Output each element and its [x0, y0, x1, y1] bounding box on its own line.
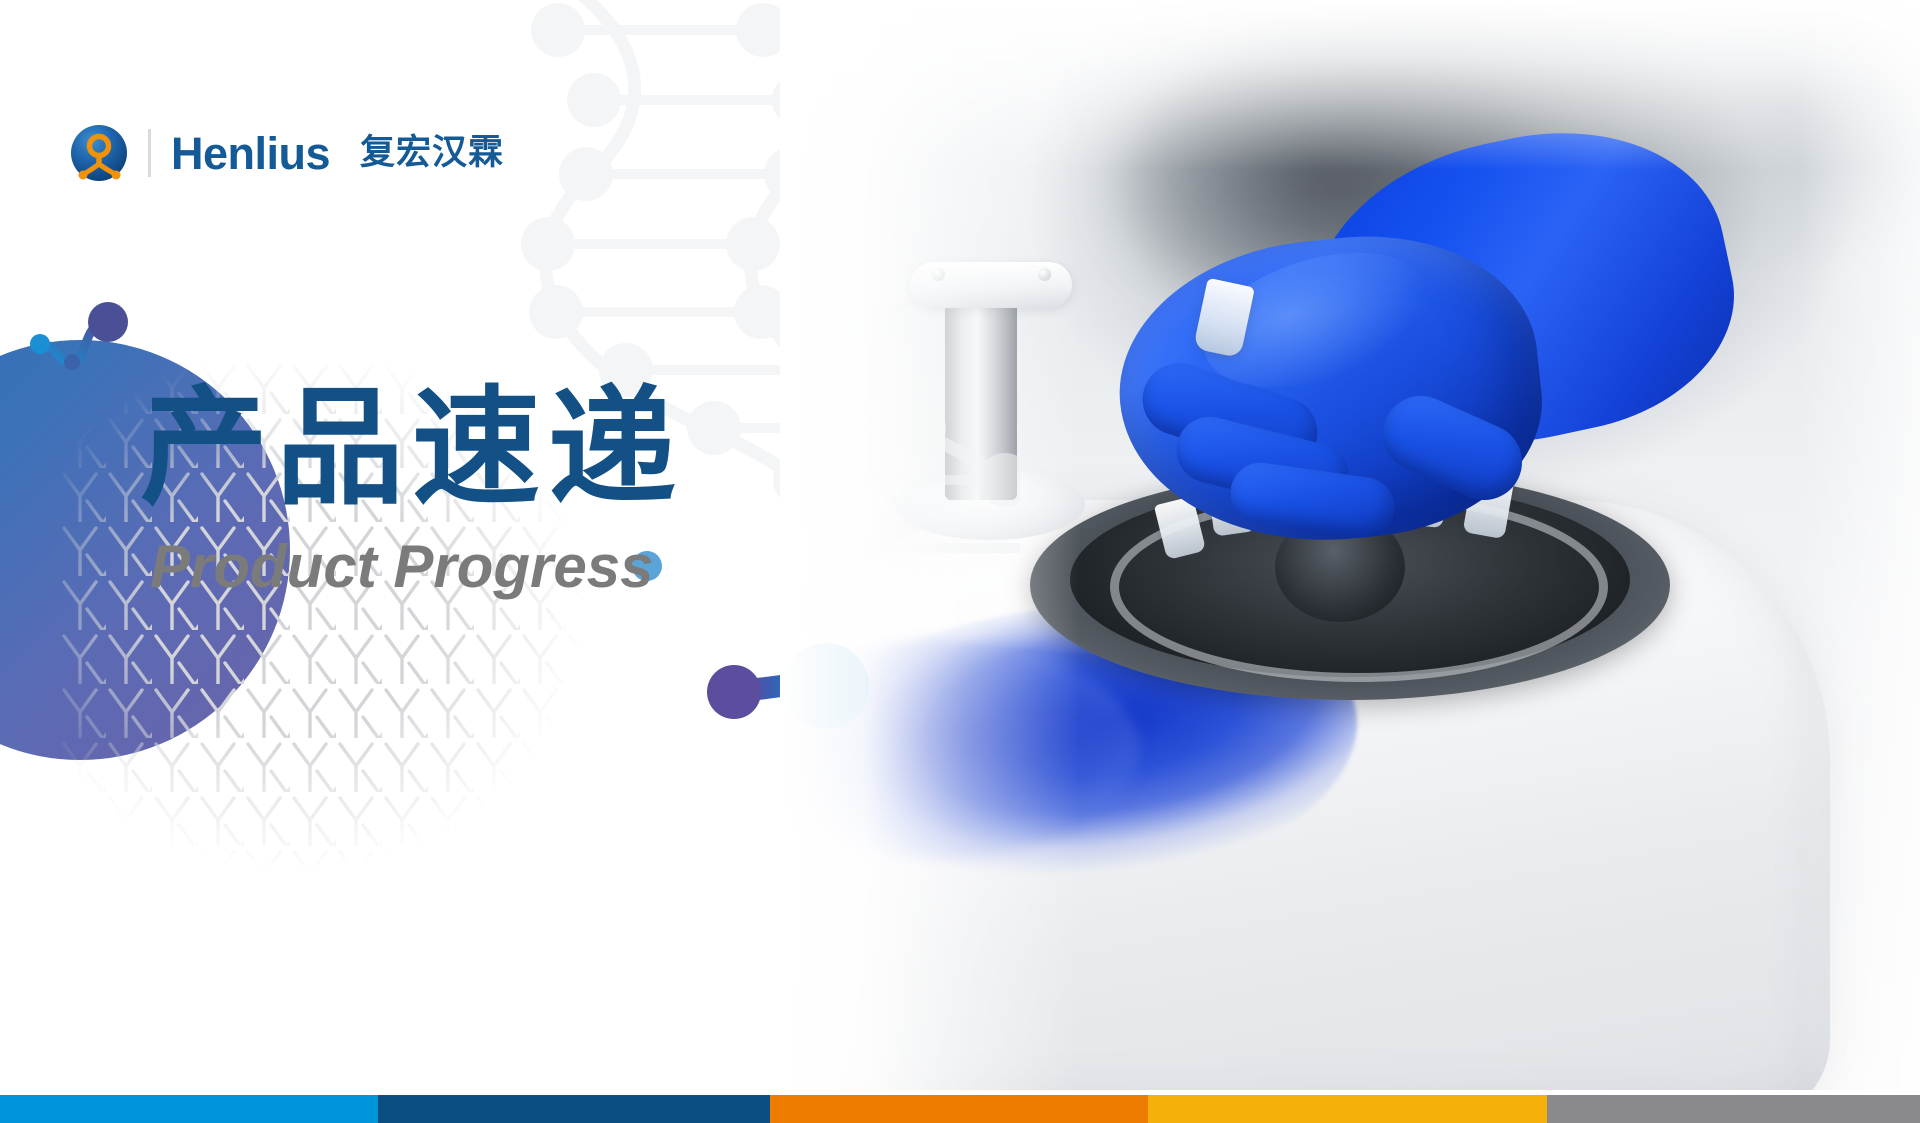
- page-title: 产品速递: [140, 380, 684, 518]
- bar-segment-light-blue: [0, 1095, 378, 1123]
- gloved-hand: [1080, 180, 1700, 580]
- molecule-accent-small: [28, 300, 138, 380]
- photo-fade-right: [1800, 0, 1920, 1090]
- bottom-color-bar: [0, 1095, 1920, 1123]
- photo-fade-left: [780, 0, 1080, 1090]
- bar-segment-gray: [1547, 1095, 1920, 1123]
- henlius-circular-molecule-mark: [68, 122, 130, 184]
- bar-segment-dark-blue: [378, 1095, 770, 1123]
- title-block: 产品速递 Product Progress: [140, 380, 684, 601]
- logo-name-en: Henlius: [171, 131, 330, 176]
- lab-centrifuge-photo: [780, 0, 1920, 1090]
- logo-divider: [148, 129, 151, 177]
- bar-segment-orange: [770, 1095, 1148, 1123]
- title-slide: Henlius 复宏汉霖 产品速递 Product Progress: [0, 0, 1920, 1123]
- page-subtitle: Product Progress: [150, 532, 684, 601]
- logo-name-cn: 复宏汉霖: [360, 136, 504, 171]
- henlius-logo[interactable]: Henlius 复宏汉霖: [68, 122, 504, 184]
- bar-segment-amber: [1148, 1095, 1547, 1123]
